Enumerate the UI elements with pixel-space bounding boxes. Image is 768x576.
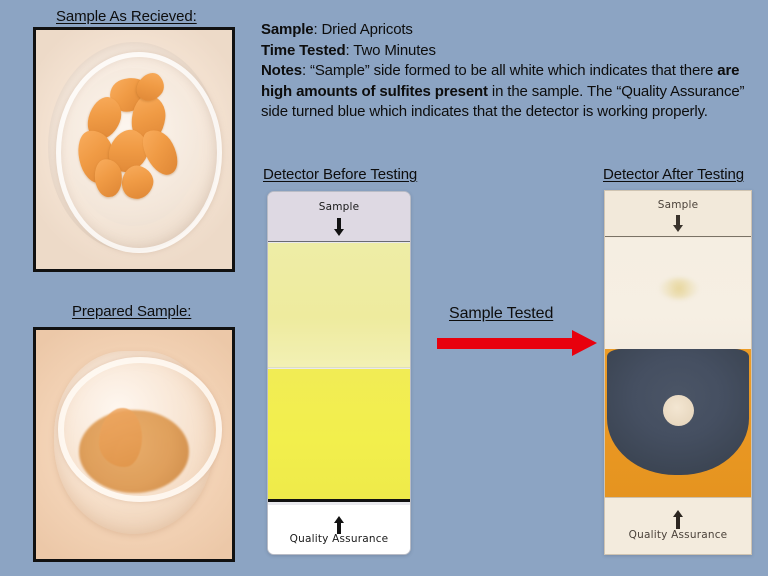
notes-notes-label: Notes: [261, 62, 302, 79]
detector-strip-after: Sample Quality Assurance: [604, 190, 752, 555]
photo-received-image: [36, 30, 232, 269]
after-sample-band: Sample: [605, 191, 751, 237]
notes-sample-value: : Dried Apricots: [313, 21, 412, 38]
after-sample-label: Sample: [605, 199, 751, 211]
notes-line-sample: Sample: Dried Apricots: [261, 20, 746, 41]
arrow-shaft: [437, 338, 575, 349]
photo-prepared-sample: [33, 327, 235, 562]
notes-text-part1: : “Sample” side formed to be all white w…: [302, 62, 717, 79]
before-bright-yellow-zone: [268, 369, 410, 502]
before-qa-band: Quality Assurance: [268, 505, 410, 554]
photo-prepared-image: [36, 330, 232, 559]
notes-sample-label: Sample: [261, 21, 313, 38]
notes-time-value: : Two Minutes: [346, 42, 436, 59]
notes-line-notes: Notes: “Sample” side formed to be all wh…: [261, 61, 746, 123]
after-orange-zone: [605, 349, 751, 497]
slide-canvas: Sample As Recieved: Prepared Sample:: [0, 0, 768, 576]
before-sample-band: Sample: [268, 192, 410, 242]
before-pale-yellow-zone: [268, 243, 410, 368]
before-sample-label: Sample: [268, 201, 410, 213]
caption-sample-as-received: Sample As Recieved:: [56, 8, 197, 25]
before-qa-label: Quality Assurance: [268, 533, 410, 545]
sample-tested-arrow: [437, 338, 595, 350]
arrow-head: [572, 330, 597, 356]
notes-block: Sample: Dried Apricots Time Tested: Two …: [261, 20, 746, 123]
caption-sample-tested: Sample Tested: [449, 305, 553, 323]
after-white-zone: [605, 238, 751, 349]
faint-yellow-smudge: [660, 278, 698, 299]
photo-sample-as-received: [33, 27, 235, 272]
cup-rim-prepared: [58, 357, 223, 502]
caption-prepared-sample: Prepared Sample:: [72, 303, 191, 320]
detector-strip-before: Sample Quality Assurance: [267, 191, 411, 555]
notes-line-time: Time Tested: Two Minutes: [261, 41, 746, 62]
caption-detector-before: Detector Before Testing: [263, 166, 417, 183]
after-qa-band: Quality Assurance: [605, 497, 751, 554]
after-qa-label: Quality Assurance: [605, 529, 751, 541]
caption-detector-after: Detector After Testing: [603, 166, 744, 183]
notes-time-label: Time Tested: [261, 42, 346, 59]
